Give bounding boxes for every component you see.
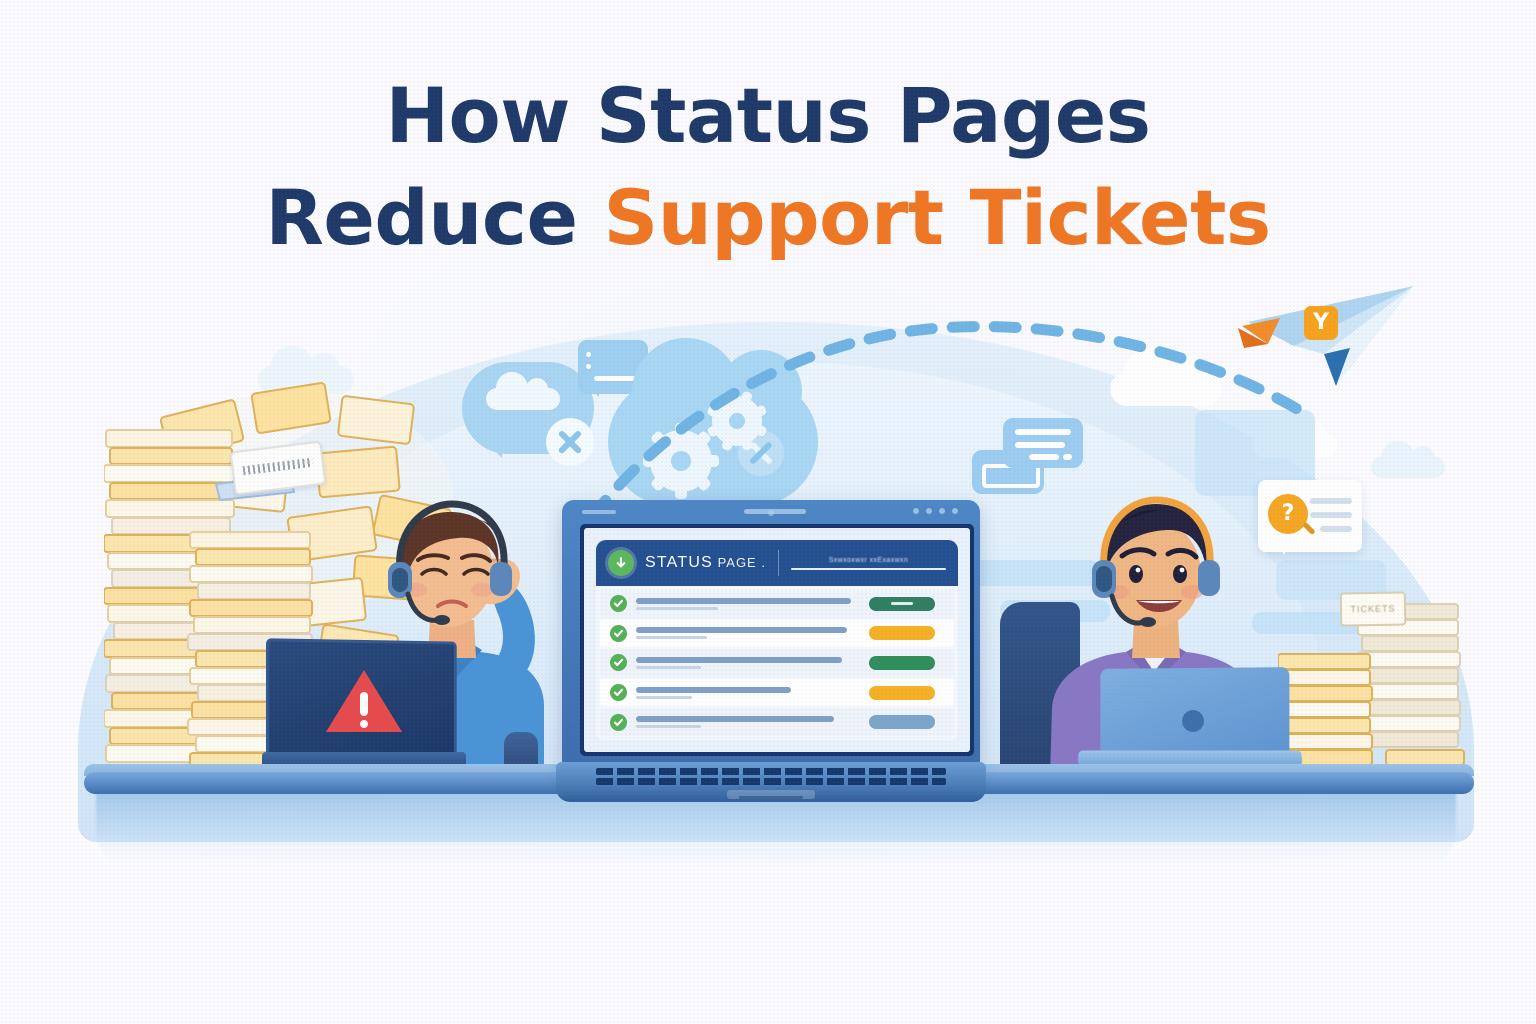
status-badge bbox=[869, 715, 935, 729]
status-badge bbox=[869, 686, 935, 700]
brand-strong: STATUS bbox=[645, 554, 713, 571]
status-row[interactable] bbox=[600, 708, 954, 736]
status-row[interactable] bbox=[600, 649, 954, 677]
check-circle-icon bbox=[610, 714, 627, 731]
status-badge-cell bbox=[860, 597, 944, 611]
check-circle-icon bbox=[608, 550, 634, 576]
status-row-label bbox=[636, 657, 851, 669]
question-magnifier-icon: ? bbox=[1268, 494, 1308, 534]
status-page-screen[interactable]: STATUS PAGE . Sxwxoxwxr xxExaxwxn bbox=[584, 528, 970, 752]
lid-accent-line bbox=[744, 509, 806, 514]
brand-light: PAGE . bbox=[713, 555, 766, 570]
laptop-bezel: STATUS PAGE . Sxwxoxwxr xxExaxwxn bbox=[580, 524, 974, 756]
status-badge bbox=[869, 597, 935, 611]
status-row-label bbox=[636, 687, 851, 699]
status-badge-cell bbox=[860, 715, 944, 729]
warning-exclamation bbox=[360, 692, 368, 716]
status-page-meta-text: Sxwxoxwxr xxExaxwxn bbox=[791, 557, 946, 564]
status-row[interactable] bbox=[600, 620, 954, 648]
laptop-logo bbox=[1182, 710, 1204, 732]
laptop-center-lid: STATUS PAGE . Sxwxoxwxr xxExaxwxn bbox=[562, 500, 980, 772]
tickets-label-text: TICKETS bbox=[1350, 604, 1395, 615]
lid-accent-line bbox=[582, 510, 616, 514]
check-circle-icon bbox=[610, 654, 627, 671]
status-row-label bbox=[636, 716, 851, 728]
title-line-1: How Status Pages bbox=[0, 78, 1536, 154]
status-page-header: STATUS PAGE . Sxwxoxwxr xxExaxwxn bbox=[596, 540, 958, 586]
illustration-canvas: Y How Status Pages Reduce Support Ticket… bbox=[0, 0, 1536, 1024]
status-page-meta-rule bbox=[791, 568, 946, 570]
status-row[interactable] bbox=[600, 590, 954, 618]
laptop-right-lid bbox=[1100, 667, 1289, 755]
tickets-label: TICKETS bbox=[1340, 591, 1407, 626]
lid-dots bbox=[913, 508, 958, 514]
status-badge bbox=[869, 656, 935, 670]
faq-card: ? bbox=[1258, 480, 1362, 552]
magnifier-handle bbox=[1302, 522, 1315, 535]
warning-exclamation-dot bbox=[360, 720, 368, 728]
check-circle-icon bbox=[610, 625, 627, 642]
status-page-rows bbox=[596, 586, 958, 740]
laptop-left bbox=[268, 640, 468, 772]
header-divider bbox=[778, 550, 779, 576]
status-badge-cell bbox=[860, 656, 944, 670]
check-circle-icon bbox=[610, 595, 627, 612]
title-line-2: Reduce Support Tickets bbox=[0, 180, 1536, 256]
ticket-stack-right bbox=[1278, 600, 1468, 776]
status-badge-cell bbox=[860, 626, 944, 640]
check-circle-icon bbox=[610, 684, 627, 701]
title-line-2-accent: Support Tickets bbox=[603, 173, 1270, 262]
laptop-right bbox=[1078, 668, 1302, 778]
status-page-brand: STATUS PAGE . bbox=[645, 554, 766, 572]
base-notch bbox=[739, 796, 803, 799]
status-badge bbox=[869, 626, 935, 640]
brand-badge: Y bbox=[1304, 306, 1338, 340]
status-row-label bbox=[636, 598, 851, 610]
page-title: How Status Pages Reduce Support Tickets bbox=[0, 78, 1536, 256]
webcam-icon bbox=[768, 510, 774, 516]
keyboard[interactable] bbox=[596, 768, 946, 788]
laptop-center: STATUS PAGE . Sxwxoxwxr xxExaxwxn bbox=[556, 500, 986, 812]
cloud-icon bbox=[1371, 456, 1445, 478]
laptop-center-base bbox=[556, 762, 986, 802]
title-line-2-plain: Reduce bbox=[265, 173, 603, 262]
brand-badge-letter: Y bbox=[1313, 312, 1329, 334]
status-page-meta: Sxwxoxwxr xxExaxwxn bbox=[791, 557, 946, 570]
status-row[interactable] bbox=[600, 679, 954, 707]
status-row-label bbox=[636, 627, 851, 639]
status-badge-cell bbox=[860, 686, 944, 700]
